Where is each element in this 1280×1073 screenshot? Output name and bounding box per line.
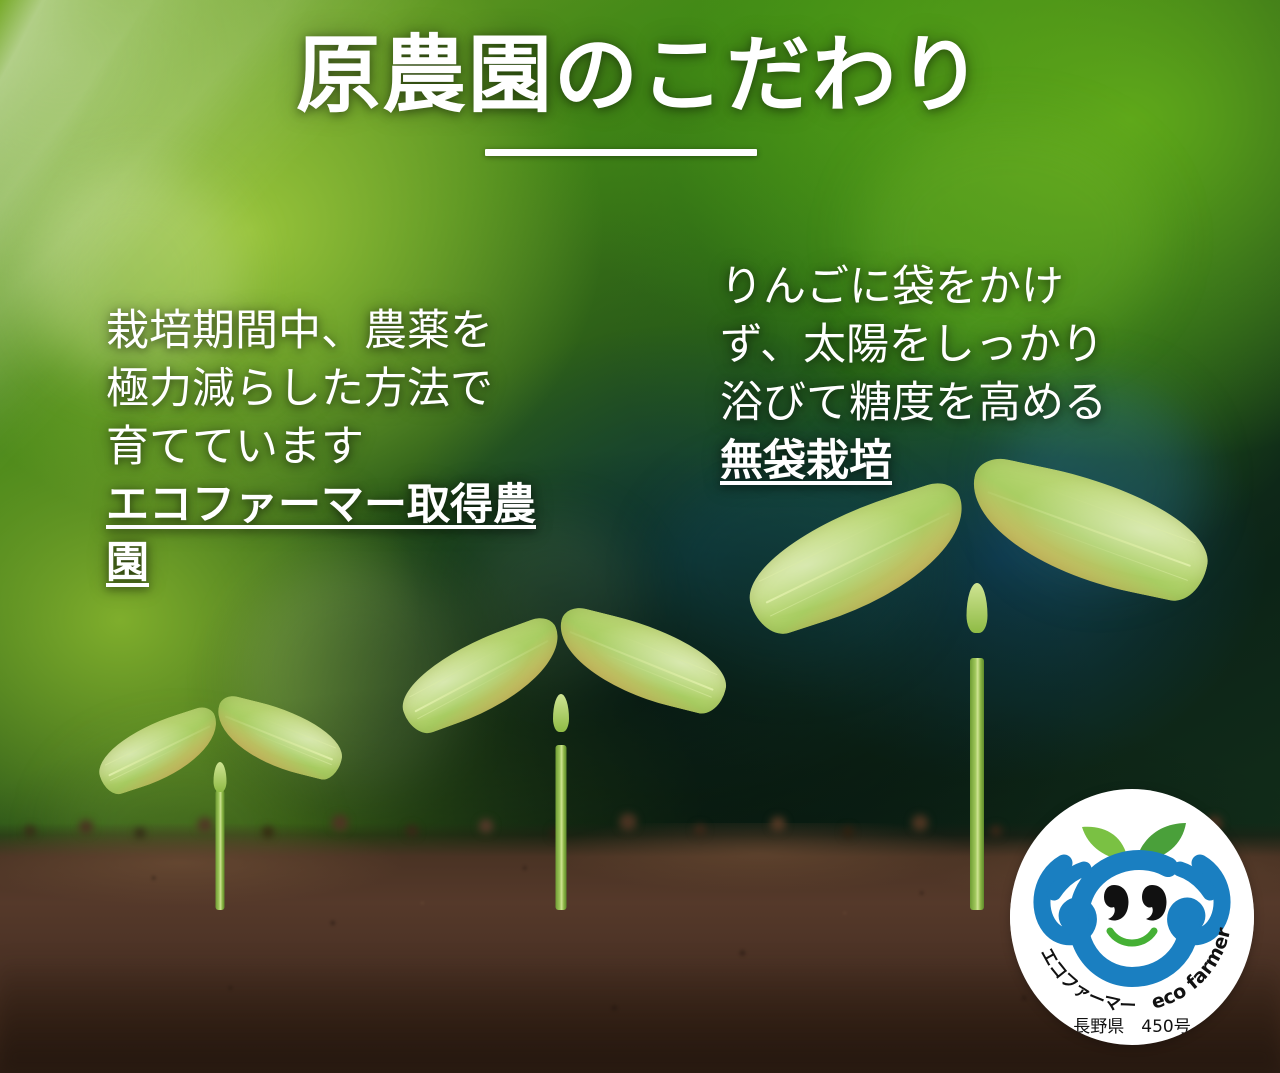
left-copy-emphasis: エコファーマー取得農園 xyxy=(106,480,536,588)
leaf-vein xyxy=(256,734,332,766)
page-title: 原農園のこだわり xyxy=(0,30,1280,121)
sprout-bud xyxy=(967,583,988,633)
sprout-leaf-left xyxy=(389,613,575,739)
leaf-vein xyxy=(617,633,719,675)
leaf-vein xyxy=(770,548,908,616)
sprout-bud xyxy=(553,694,569,732)
right-copy-emphasis: 無袋栽培 xyxy=(720,436,892,486)
sprout-bud xyxy=(214,762,227,792)
sprout-stem xyxy=(556,745,567,910)
left-copy-body: 栽培期間中、農薬を 極力減らした方法で 育てています xyxy=(106,302,576,476)
logo-certificate-number: 長野県 450号 xyxy=(1073,1017,1190,1037)
sprout-leaf-right xyxy=(208,693,351,783)
left-copy-block: 栽培期間中、農薬を 極力減らした方法で 育てていますエコファーマー取得農園 xyxy=(106,244,576,592)
leaf-vein xyxy=(766,512,950,603)
medium-sprout xyxy=(396,622,726,910)
sprout-stem xyxy=(970,658,984,910)
right-copy-block: りんごに袋をかけ ず、太陽をしっかり 浴びて糖度を高める無袋栽培 xyxy=(720,200,1190,490)
promo-banner: 原農園のこだわり 栽培期間中、農薬を 極力減らした方法で 育てていますエコファー… xyxy=(0,0,1280,1073)
leaf-vein xyxy=(415,639,550,712)
sprout-stem xyxy=(216,790,225,910)
title-underline-rule xyxy=(485,149,757,156)
leaf-vein xyxy=(225,715,333,760)
right-copy-body: りんごに袋をかけ ず、太陽をしっかり 浴びて糖度を高める xyxy=(720,258,1190,432)
sprout-leaf-left xyxy=(733,477,984,642)
leaf-vein xyxy=(110,745,182,781)
small-sprout xyxy=(95,700,345,910)
leaf-vein xyxy=(1048,489,1196,544)
sprout-leaf-left xyxy=(89,704,229,799)
leaf-vein xyxy=(417,667,515,720)
leaf-vein xyxy=(607,655,712,698)
eco-farmer-logo: エコファーマー eco farmer 長野県 450号 xyxy=(1010,789,1254,1045)
leaf-vein xyxy=(570,631,714,691)
leaf-vein xyxy=(108,725,210,776)
